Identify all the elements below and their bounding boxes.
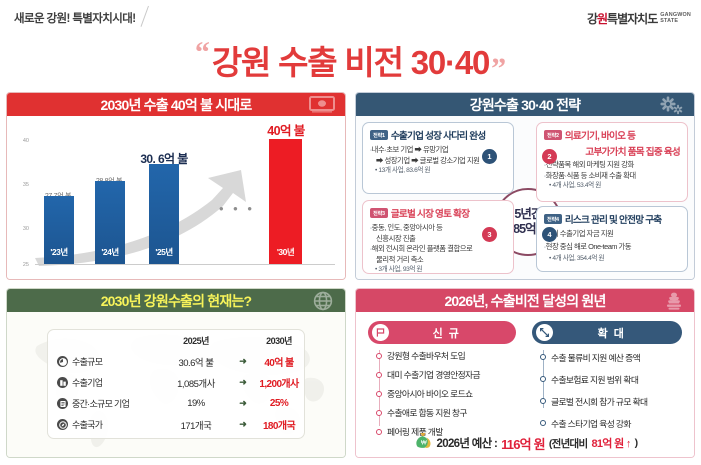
expand-icon (536, 324, 553, 341)
strategy-box-4[interactable]: 전략4 리스크 관리 및 안전망 구축 ◦대미 수출기업 자금 지원 ◦현장 중… (536, 206, 688, 272)
list-item: 수출보험료 지원 범위 확대 (540, 368, 648, 390)
row-2-label: 중간·소규모 기업 (72, 397, 129, 410)
strategy-2-title-line2: 고부가가치 품목 집중 육성 (544, 144, 680, 158)
chart-baseline (35, 264, 335, 265)
strategy-1-item-1-text: ➡ 성장기업 ➡ 글로벌 강소기업 지원 (376, 156, 479, 165)
strategy-3-badge: 전략3 (370, 208, 388, 218)
row-2-now: 19% (160, 398, 232, 409)
export-bar-chart: 40 35 30 25 27.7억 불 '23년 28.8억 불 '24년 (7, 116, 345, 279)
panel2-header: 강원수출 30·40 전략 (356, 93, 694, 116)
panel-current-status: 2030년 강원수출의 현재는? (6, 288, 346, 458)
bar-1: '24년 (95, 181, 125, 264)
bar-year-3: '30년 (269, 246, 302, 258)
logo-korean-text: 강원특별자치도 (587, 10, 657, 27)
strategy-2-item-0-text: 전략품목 해외 마케팅 지원 강화 (546, 160, 634, 169)
bar-year-2: '25년 (149, 246, 179, 258)
panel4-header: 2026년, 수출비전 달성의 원년 (356, 289, 694, 312)
tagline-text: 새로운 강원! 특별자치시대! (14, 10, 135, 26)
logo-english-text: GANGWON STATE (660, 13, 691, 24)
table-row: 수출국가 171개국 ➜ 180개국 (48, 414, 304, 435)
new-item-0: 강원형 수출바우처 도입 (387, 349, 465, 362)
strategy-2-title: 의료기기, 바이오 등 (565, 128, 635, 142)
strategy-box-2[interactable]: 전략2 의료기기, 바이오 등 고부가가치 품목 집중 육성 ◦전략품목 해외 … (536, 122, 688, 202)
list-item: 수출애로 합동 지원 창구 (376, 403, 480, 422)
strategy-3-item-3-text: 물리적 거리 축소 (376, 255, 423, 264)
strategy-number-4: 4 (542, 227, 557, 242)
row-2-label-cell: 중간·소규모 기업 (48, 397, 160, 410)
list-item: 글로벌 전시회 참가 규모 확대 (540, 390, 648, 412)
row-0-future: 40억 불 (254, 354, 304, 369)
chart-ellipsis: • • • (219, 201, 255, 216)
logo-char-red: 원 (597, 12, 607, 26)
strategy-3-sub: • 3개 사업, 93억 원 (370, 265, 506, 275)
bar-2: '25년 (149, 164, 179, 264)
strategy-4-item-1: ◦현장 중심 해로 One-team 가동 (544, 242, 680, 253)
panel4-title-part1: 2026년, (444, 293, 490, 309)
strategy-3-item-3: 물리적 거리 축소 (370, 255, 506, 266)
new-item-1: 대미 수출기업 경영안정자금 (387, 368, 480, 381)
page-title: “ 강원 수출 비전 30·40 ” (0, 34, 701, 86)
document-icon (57, 398, 68, 409)
table-row: 수출규모 30.6억 불 ➜ 40억 불 (48, 351, 304, 372)
row-3-now: 171개국 (160, 418, 232, 432)
row-1-arrow-icon: ➜ (232, 377, 254, 388)
table-header-2030: 2030년 (254, 334, 304, 347)
row-3-label: 수출국가 (72, 418, 102, 431)
bullet-dot-icon (540, 420, 546, 426)
expand-section-label: 확 대 (555, 325, 682, 341)
panel-strategy: 강원수출 30·40 전략 5년간 585억 원 전략1 수출기업 성 (355, 92, 695, 280)
new-items-list: 강원형 수출바우처 도입 대미 수출기업 경영안정자금 중앙아시아 바이오 로드… (376, 346, 480, 441)
compass-icon (57, 419, 68, 430)
list-item: 대미 수출기업 경영안정자금 (376, 365, 480, 384)
row-1-now: 1,085개사 (160, 376, 232, 390)
bullet-dot-icon (540, 398, 546, 404)
expand-item-2: 글로벌 전시회 참가 규모 확대 (551, 395, 648, 408)
money-bag-icon: ₩ (413, 432, 433, 454)
panel3-title: 2030년 강원수출의 현재는? (101, 291, 252, 311)
budget-compare-close: ) (635, 437, 638, 449)
row-0-now: 30.6억 불 (160, 355, 232, 369)
budget-compare-open: (전년대비 (549, 436, 588, 451)
expand-section-pill[interactable]: 확 대 (532, 321, 682, 344)
strategy-2-badge: 전략2 (544, 130, 562, 140)
banknote-icon (309, 95, 335, 118)
row-3-arrow-icon: ➜ (232, 419, 254, 430)
panel3-header: 2030년 강원수출의 현재는? (7, 289, 345, 312)
bar-year-1: '24년 (95, 246, 125, 258)
bullet-dot-icon (540, 376, 546, 382)
strategy-4-title-row: 전략4 리스크 관리 및 안전망 구축 (544, 212, 680, 226)
strategy-1-sub: • 13개 사업, 83.6억 원 (370, 166, 506, 176)
strategy-number-3: 3 (482, 227, 497, 242)
panel4-title-part2: 수출비전 달성의 원년 (491, 293, 606, 309)
top-header-bar: 새로운 강원! 특별자치시대! 강원특별자치도 GANGWON STATE (0, 0, 701, 34)
row-1-label: 수출기업 (72, 376, 102, 389)
budget-amount: 116억 원 (501, 434, 545, 453)
strategy-2-item-1-text: 화장품·식품 등 소비재 수출 확대 (546, 171, 636, 180)
strategy-4-item-0: ◦대미 수출기업 자금 지원 (544, 229, 680, 240)
panel1-title: 2030년 수출 40억 불 시대로 (101, 95, 252, 115)
table-header-row: 2025년 2030년 (48, 330, 304, 351)
strategy-1-title-row: 전략1 수출기업 성장 사다리 완성 (370, 128, 506, 142)
bar-year-0: '23년 (44, 246, 74, 258)
strategy-3-title: 글로벌 시장 영토 확장 (391, 206, 469, 220)
pie-chart-icon (57, 356, 68, 367)
strategy-3-item-1-text: 신흥시장 진출 (376, 234, 415, 243)
infographic-page: 새로운 강원! 특별자치시대! 강원특별자치도 GANGWON STATE “ … (0, 0, 701, 465)
page-title-text: 강원 수출 비전 30·40 (212, 36, 489, 84)
strategy-3-title-row: 전략3 글로벌 시장 영토 확장 (370, 206, 506, 220)
expand-items-list: 수출 물류비 지원 예산 증액 수출보험료 지원 범위 확대 글로벌 전시회 참… (540, 346, 648, 434)
quote-close-icon: ” (491, 54, 506, 84)
row-3-label-cell: 수출국가 (48, 418, 160, 431)
budget-compare-amount: 81억 원 ↑ (591, 435, 630, 451)
new-item-3: 수출애로 합동 지원 창구 (387, 406, 467, 419)
list-item: 수출 스타기업 육성 강화 (540, 412, 648, 434)
strategy-4-sub: • 4개 사업, 354.4억 원 (544, 254, 680, 264)
row-1-label-cell: 수출기업 (48, 376, 160, 389)
bar-3: '30년 (269, 139, 302, 264)
strategy-3-item-2-text: 해외 전시회 온라인 플랫폼 결합으로 (372, 244, 473, 253)
row-0-label: 수출규모 (72, 355, 102, 368)
strategy-number-2: 2 (542, 149, 557, 164)
list-item: 중앙아시아 바이오 로드쇼 (376, 384, 480, 403)
budget-label: 2026년 예산 : (437, 435, 498, 451)
row-2-future: 25% (254, 398, 304, 409)
status-table: 2025년 2030년 수출규모 30.6억 불 ➜ 40억 불 (47, 329, 305, 439)
new-section-pill[interactable]: 신 규 (368, 321, 516, 344)
strategy-3-item-0-text: 중동, 인도, 중앙아시아 등 (372, 223, 443, 232)
bullet-dot-icon (376, 353, 382, 359)
bullet-dot-icon (376, 391, 382, 397)
expand-item-3: 수출 스타기업 육성 강화 (551, 417, 631, 430)
budget-row: ₩ 2026년 예산 : 116억 원 (전년대비 81억 원 ↑ ) (356, 432, 694, 454)
strategy-3-item-2: ◦해외 전시회 온라인 플랫폼 결합으로 (370, 244, 506, 255)
flag-icon (372, 324, 389, 341)
row-0-arrow-icon: ➜ (232, 356, 254, 367)
panel-export-growth-chart: 2030년 수출 40억 불 시대로 40 35 30 25 27.7억 불 (6, 92, 346, 280)
strategy-1-title: 수출기업 성장 사다리 완성 (391, 128, 486, 142)
panel2-title: 강원수출 30·40 전략 (470, 95, 580, 115)
strategy-2-item-0: ◦전략품목 해외 마케팅 지원 강화 (544, 160, 680, 171)
tagline-divider (141, 6, 149, 27)
bar-label-3: 40억 불 (255, 120, 317, 139)
panel2-body: 5년간 585억 원 전략1 수출기업 성장 사다리 완성 ◦내수·초보 기업 … (356, 116, 694, 280)
logo-char-1: 강 (587, 12, 597, 26)
strategy-4-item-1-text: 현장 중심 해로 One-team 가동 (546, 242, 631, 251)
list-item: 수출 물류비 지원 예산 증액 (540, 346, 648, 368)
building-icon (57, 377, 68, 388)
bullet-dot-icon (376, 372, 382, 378)
strategy-2-sub: • 4개 사업, 53.4억 원 (544, 181, 680, 191)
row-1-future: 1,200개사 (254, 375, 304, 390)
expand-item-1: 수출보험료 지원 범위 확대 (551, 373, 638, 386)
panel4-body: 신 규 강원형 수출바우처 도입 대미 수출기업 경영안정자금 중앙아시아 바이… (356, 312, 694, 458)
bullet-dot-icon (540, 354, 546, 360)
panel3-body: 2025년 2030년 수출규모 30.6억 불 ➜ 40억 불 (7, 312, 345, 458)
list-item: 강원형 수출바우처 도입 (376, 346, 480, 365)
strategy-1-badge: 전략1 (370, 130, 388, 140)
strategy-2-item-1: ◦화장품·식품 등 소비재 수출 확대 (544, 171, 680, 182)
logo-en-line-2: STATE (660, 19, 691, 25)
quote-open-icon: “ (195, 38, 210, 68)
strategy-4-badge: 전략4 (544, 214, 562, 224)
gangwon-logo: 강원특별자치도 GANGWON STATE (587, 10, 691, 27)
new-section-label: 신 규 (391, 325, 516, 341)
bar-0: '23년 (44, 196, 74, 264)
panel1-header: 2030년 수출 40억 불 시대로 (7, 93, 345, 116)
table-row: 수출기업 1,085개사 ➜ 1,200개사 (48, 372, 304, 393)
row-2-arrow-icon: ➜ (232, 398, 254, 409)
strategy-4-title: 리스크 관리 및 안전망 구축 (565, 212, 662, 226)
table-header-2025: 2025년 (160, 334, 232, 347)
expand-item-0: 수출 물류비 지원 예산 증액 (551, 351, 640, 364)
logo-char-rest: 특별자치도 (607, 12, 657, 26)
row-0-label-cell: 수출규모 (48, 355, 160, 368)
panel-2026-plan: 2026년, 수출비전 달성의 원년 신 규 강원형 수출바우처 도입 대미 수… (355, 288, 695, 458)
table-row: 중간·소규모 기업 19% ➜ 25% (48, 393, 304, 414)
bullet-dot-icon (376, 410, 382, 416)
new-item-2: 중앙아시아 바이오 로드쇼 (387, 387, 472, 400)
strategy-1-item-0-text: 내수·초보 기업 ➡ 유망기업 (372, 145, 449, 154)
strategy-number-1: 1 (482, 149, 497, 164)
row-3-future: 180개국 (254, 417, 304, 432)
strategy-2-title-row: 전략2 의료기기, 바이오 등 (544, 128, 680, 142)
panel4-title: 2026년, 수출비전 달성의 원년 (444, 291, 605, 311)
panel1-body: 40 35 30 25 27.7억 불 '23년 28.8억 불 '24년 (7, 116, 345, 280)
svg-text:₩: ₩ (421, 441, 427, 447)
